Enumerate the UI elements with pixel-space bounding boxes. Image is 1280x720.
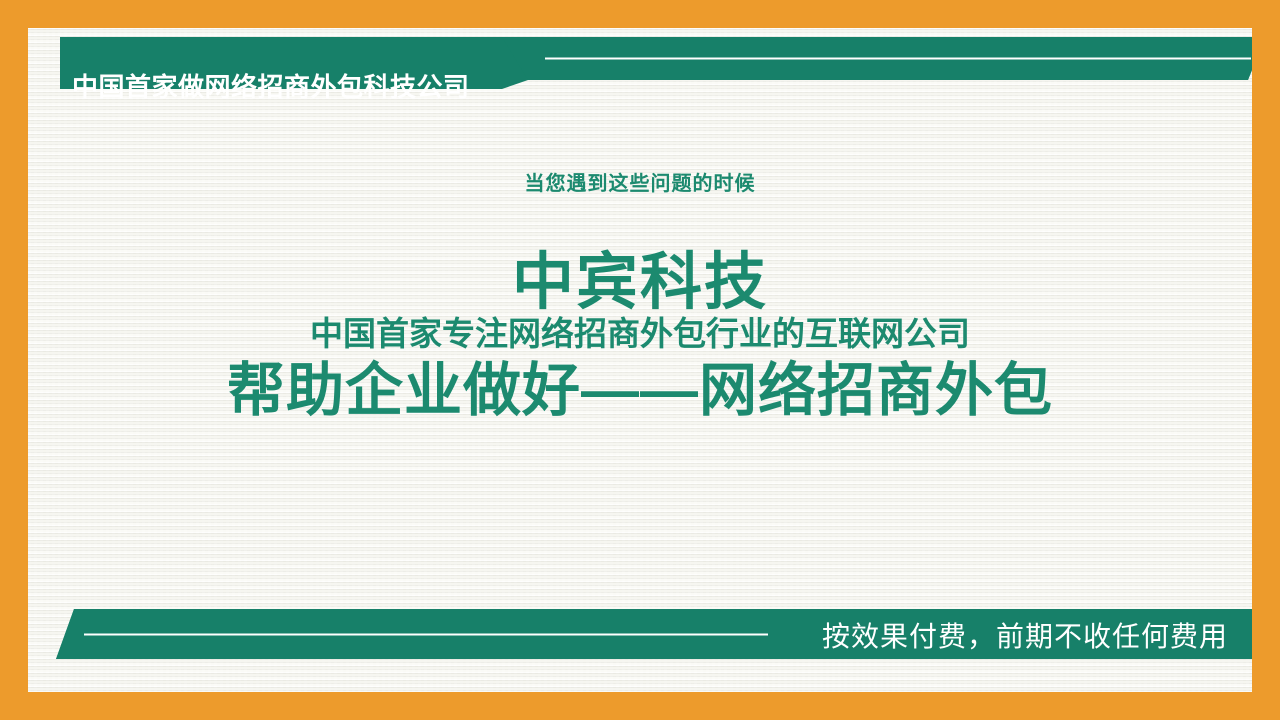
header-title: 中国首家做网络招商外包科技公司 (72, 66, 470, 108)
header-banner-right-bar (502, 37, 1252, 80)
tagline-text: 中国首家专注网络招商外包行业的互联网公司 (28, 316, 1252, 352)
footer-title: 按效果付费，前期不收任何费用 (822, 615, 1228, 659)
eyebrow-text: 当您遇到这些问题的时候 (28, 167, 1252, 196)
headline-text: 帮助企业做好——网络招商外包 (28, 359, 1252, 423)
presentation-slide: 中国首家做网络招商外包科技公司 当您遇到这些问题的时候 中宾科技 中国首家专注网… (0, 0, 1280, 720)
brand-name: 中宾科技 (28, 250, 1252, 315)
slide-canvas: 中国首家做网络招商外包科技公司 当您遇到这些问题的时候 中宾科技 中国首家专注网… (28, 28, 1252, 692)
